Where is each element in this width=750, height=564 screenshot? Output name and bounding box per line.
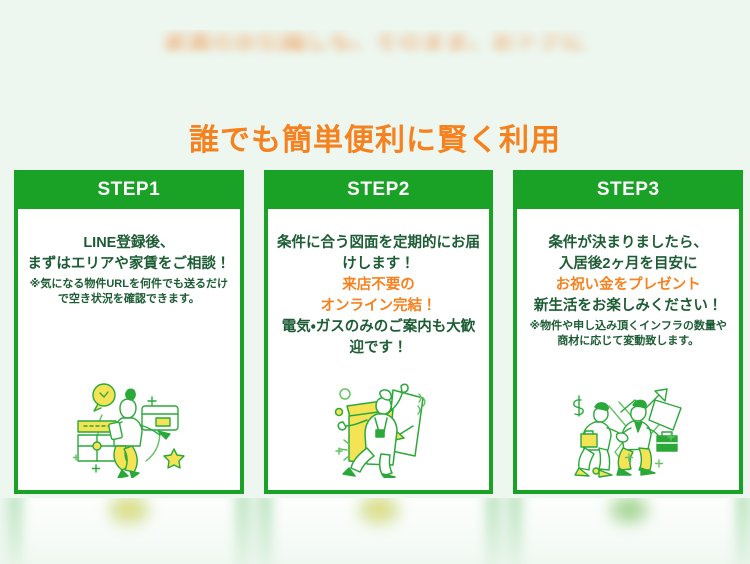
step-card-3[interactable]: STEP3 条件が決まりましたら、 入居後2ヶ月を目安に お祝い金をプレゼント …	[513, 170, 743, 494]
step-line: LINE登録後、	[25, 233, 233, 254]
step-line-highlight: オンライン完結！	[275, 296, 483, 317]
blurred-lead-text-content: 家賃のお引越しも、そのまま、おトクに	[0, 30, 750, 54]
page-root: 家賃のお引越しも、そのまま、おトクに 誰でも簡単便利に賢く利用 STEP1 LI…	[0, 0, 750, 564]
blurred-lead-text: 家賃のお引越しも、そのまま、おトクに	[0, 30, 750, 76]
step-card-2-header: STEP2	[264, 170, 494, 209]
steps-container: STEP1 LINE登録後、 まずはエリアや家賃をご相談！ ※気になる物件URL…	[14, 170, 743, 494]
bottom-blur-card	[514, 498, 744, 564]
step-card-2[interactable]: STEP2 条件に合う図面を定期的にお届 けします！ 来店不要の オンライン完結…	[264, 170, 494, 494]
step-line: 電気・ガスのみのご案内も大歓	[275, 317, 483, 338]
step-card-1[interactable]: STEP1 LINE登録後、 まずはエリアや家賃をご相談！ ※気になる物件URL…	[14, 170, 244, 494]
step-card-1-note: ※気になる物件URLを何件でも送るだけで空き状況を確認できます。	[25, 277, 233, 307]
step-line: 条件が決まりましたら、	[524, 233, 732, 254]
bottom-blur-blob	[106, 498, 152, 528]
step-line: 入居後2ヶ月を目安に	[524, 254, 732, 275]
step-line: けします！	[275, 254, 483, 275]
bottom-blurred-cards-inner	[0, 498, 750, 564]
step-line: 新生活をお楽しみください！	[524, 296, 732, 317]
step-line-highlight: 来店不要の	[275, 275, 483, 296]
person-with-documents-icon	[275, 359, 483, 490]
step-line-highlight: お祝い金をプレゼント	[524, 275, 732, 296]
step-card-1-body: LINE登録後、 まずはエリアや家賃をご相談！ ※気になる物件URLを何件でも送…	[18, 209, 240, 490]
bottom-blur-blob	[356, 498, 402, 528]
step-line: 迎です！	[275, 338, 483, 359]
step-card-3-body: 条件が決まりましたら、 入居後2ヶ月を目安に お祝い金をプレゼント 新生活をお楽…	[517, 209, 739, 490]
step-card-3-header: STEP3	[513, 170, 743, 209]
lead-fade-overlay	[0, 30, 750, 76]
step-card-1-text: LINE登録後、 まずはエリアや家賃をご相談！	[25, 233, 233, 275]
bottom-blurred-cards	[0, 498, 750, 564]
person-with-phone-chat-icon	[25, 307, 233, 490]
step-card-2-text: 条件に合う図面を定期的にお届 けします！ 来店不要の オンライン完結！ 電気・ガ…	[275, 233, 483, 359]
bottom-blur-card	[14, 498, 244, 564]
step-line: 条件に合う図面を定期的にお届	[275, 233, 483, 254]
handshake-briefcase-growth-icon	[524, 349, 732, 490]
bottom-blur-blob	[606, 498, 652, 528]
bottom-blur-card	[264, 498, 494, 564]
step-card-3-text: 条件が決まりましたら、 入居後2ヶ月を目安に お祝い金をプレゼント 新生活をお楽…	[524, 233, 732, 317]
step-card-3-note: ※物件や申し込み頂くインフラの数量や商材に応じて変動致します。	[524, 319, 732, 349]
step-card-2-body: 条件に合う図面を定期的にお届 けします！ 来店不要の オンライン完結！ 電気・ガ…	[268, 209, 490, 490]
step-card-1-header: STEP1	[14, 170, 244, 209]
step-line: まずはエリアや家賃をご相談！	[25, 254, 233, 275]
page-title: 誰でも簡単便利に賢く利用	[0, 124, 750, 158]
